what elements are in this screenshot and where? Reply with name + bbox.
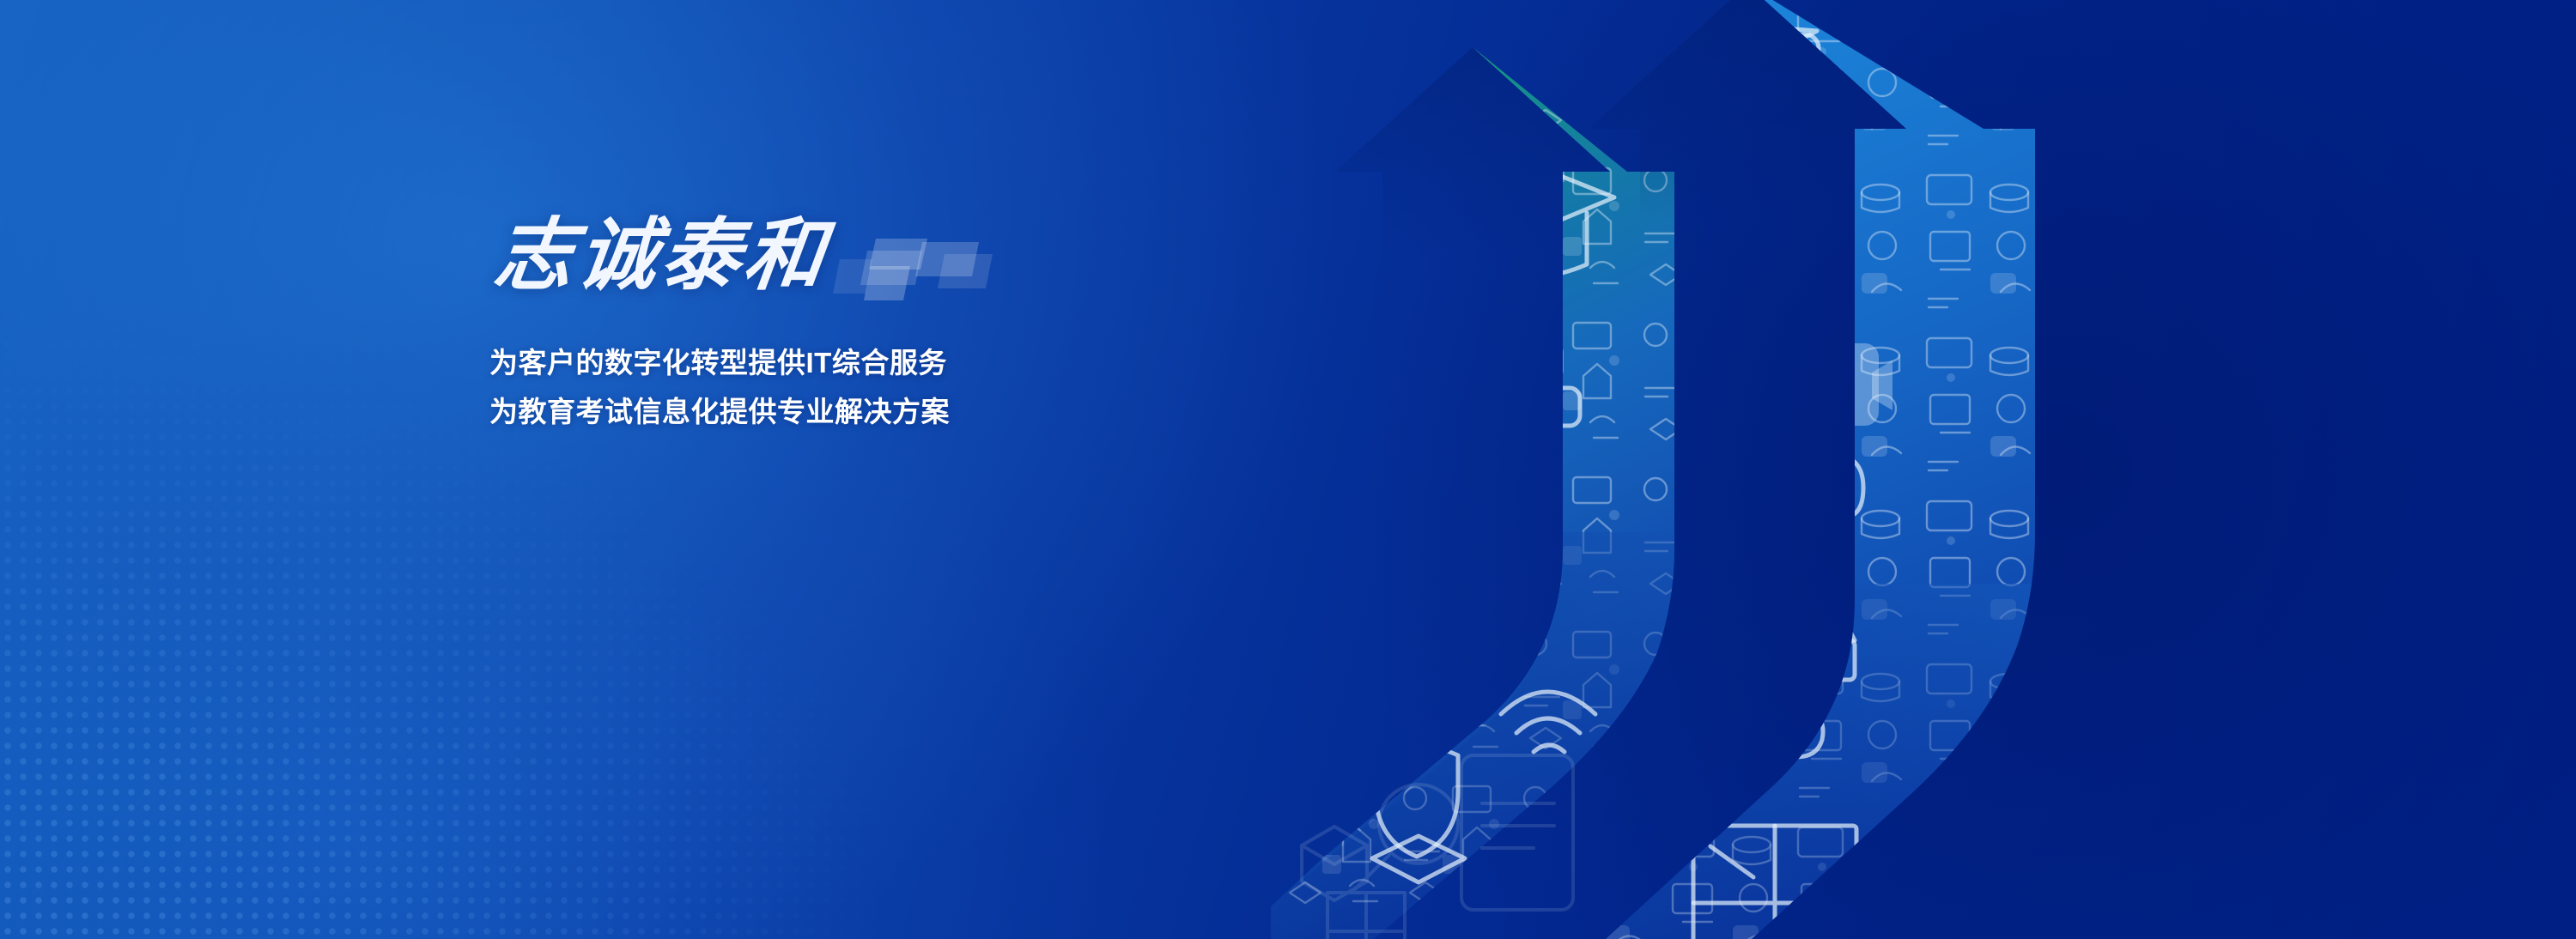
parallelogram-logo-mark (833, 228, 1005, 302)
arrow-artwork: AI (1271, 0, 2576, 939)
tagline-block: 为客户的数字化转型提供IT综合服务 为教育考试信息化提供专业解决方案 (489, 347, 1262, 428)
brand-row: 志诚泰和 (489, 213, 1262, 314)
hero-banner: AI (0, 0, 2576, 939)
tagline-line-1: 为客户的数字化转型提供IT综合服务 (489, 347, 1262, 379)
page-title: 志诚泰和 (489, 213, 833, 299)
tagline-line-2: 为教育考试信息化提供专业解决方案 (489, 396, 1262, 428)
svg-text:AI: AI (1817, 461, 1855, 503)
hero-copy: 志诚泰和 为客户的数字化转型提供IT综合服务 为教育考试信息化提供专业解决方案 (489, 213, 1262, 445)
